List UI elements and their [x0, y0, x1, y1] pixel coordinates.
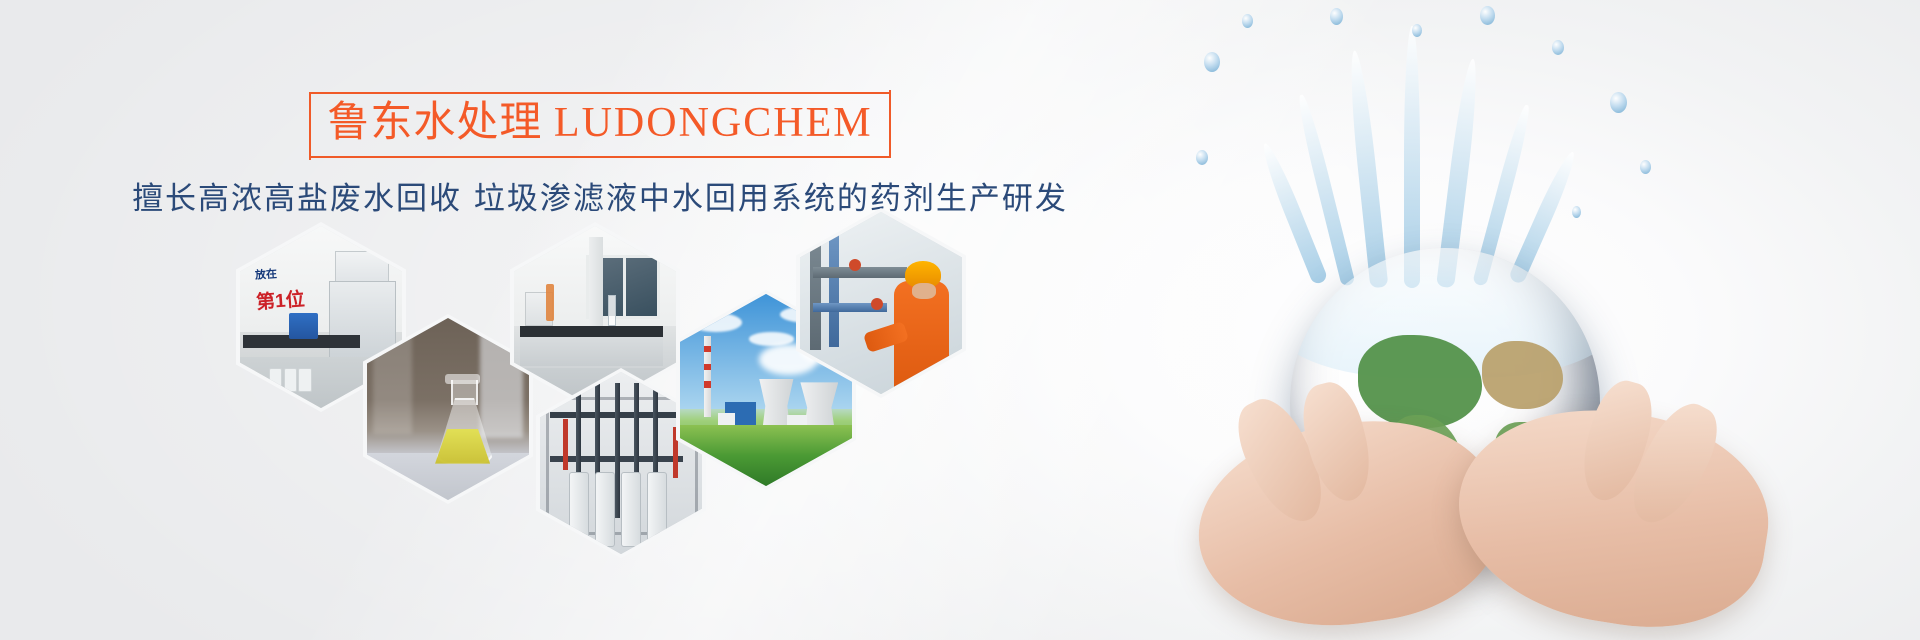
banner-text-block: 鲁东水处理 LUDONGCHEM 擅长高浓高盐废水回收 垃圾渗滤液中水回用系统的… — [0, 92, 1200, 220]
hex-slogan-small: 放在 — [254, 265, 277, 282]
brand-title: 鲁东水处理 LUDONGCHEM — [327, 98, 872, 148]
cupped-hands — [1158, 360, 1858, 640]
title-rule-bottom — [309, 156, 890, 158]
brand-title-frame: 鲁东水处理 LUDONGCHEM — [309, 92, 890, 158]
water-globe-illustration — [1140, 0, 1920, 640]
hex-image-mask — [514, 226, 676, 408]
laboratory-benches-image — [514, 226, 676, 408]
brand-title-en: LUDONGCHEM — [554, 100, 873, 146]
banner-subtitle: 擅长高浓高盐废水回收 垃圾渗滤液中水回用系统的药剂生产研发 — [0, 178, 1200, 220]
hex-slogan-big: 第1位 — [255, 284, 305, 314]
title-rule-top — [309, 92, 890, 94]
hexagon-photo-cluster: 放在 第1位 — [236, 222, 956, 522]
hero-banner: 鲁东水处理 LUDONGCHEM 擅长高浓高盐废水回收 垃圾渗滤液中水回用系统的… — [0, 0, 1920, 640]
brand-title-cn: 鲁东水处理 — [327, 100, 542, 146]
